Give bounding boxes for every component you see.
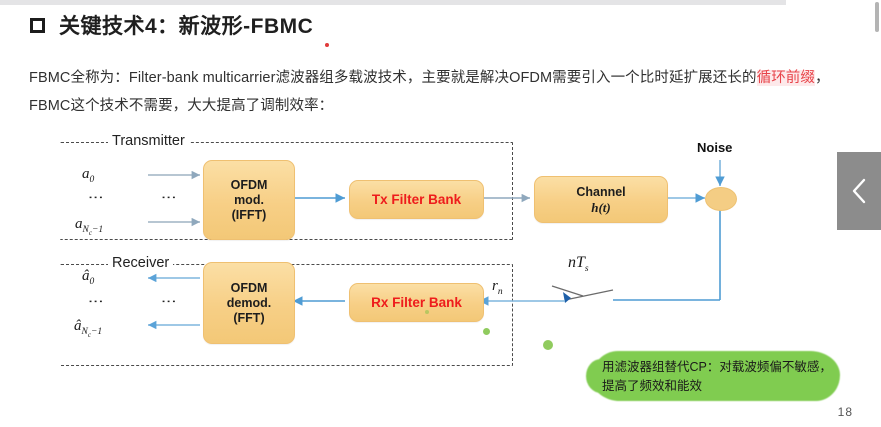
- sampling-instant-label-nts: nTs: [568, 254, 589, 274]
- page-title: 关键技术4：新波形-FBMC: [30, 10, 313, 40]
- rx-arrow-ellipsis: ⋮: [166, 294, 171, 309]
- block-ofdm-demod-line1: OFDM: [231, 281, 268, 296]
- decorative-green-dot: [543, 340, 553, 350]
- block-ofdm-mod-line1: OFDM: [231, 178, 268, 193]
- green-callout-text: 用滤波器组替代CP：对载波频偏不敏感，提高了频效和能效: [602, 358, 834, 396]
- block-ofdm-mod-line2: mod.: [234, 193, 264, 208]
- noise-label: Noise: [697, 140, 732, 155]
- summation-junction: [705, 187, 737, 211]
- previous-page-button[interactable]: [837, 152, 881, 230]
- paragraph-part-1: FBMC全称为：Filter-bank multicarrier滤波器组多载波技…: [29, 70, 757, 86]
- output-symbol-anc-hat: âNc−1: [74, 318, 102, 339]
- green-highlight-callout: 用滤波器组替代CP：对载波频偏不敏感，提高了频效和能效: [592, 351, 840, 401]
- square-bullet-icon: [30, 18, 45, 33]
- vertical-scrollbar-thumb[interactable]: [875, 2, 879, 32]
- block-channel-line2: h(t): [591, 200, 611, 215]
- block-channel-line1: Channel: [576, 185, 625, 200]
- body-paragraph: FBMC全称为：Filter-bank multicarrier滤波器组多载波技…: [29, 64, 859, 120]
- title-red-dot-marker: [325, 43, 329, 47]
- tx-arrow-ellipsis: ⋮: [166, 190, 171, 205]
- signal-label-rn: rn: [492, 278, 503, 297]
- decorative-green-dot: [483, 328, 490, 335]
- page-title-text: 关键技术4：新波形-FBMC: [59, 10, 313, 40]
- block-tx-filter-bank[interactable]: Tx Filter Bank: [349, 180, 484, 219]
- window-top-bar: [0, 0, 786, 5]
- block-ofdm-demod-line3: (FFT): [233, 311, 264, 326]
- block-channel[interactable]: Channel h(t): [534, 176, 668, 223]
- output-symbol-a0-hat: â0: [82, 268, 94, 287]
- page-number: 18: [838, 405, 853, 419]
- chevron-left-icon: [849, 176, 869, 206]
- block-ofdm-demod-line2: demod.: [227, 296, 271, 311]
- fbmc-block-diagram: Transmitter Receiver a0 ⋮ aNc−1: [60, 128, 820, 378]
- block-ofdm-mod[interactable]: OFDM mod. (IFFT): [203, 160, 295, 240]
- block-rx-filter-bank[interactable]: Rx Filter Bank: [349, 283, 484, 322]
- block-ofdm-demod[interactable]: OFDM demod. (FFT): [203, 262, 295, 344]
- diagram-connectors: [60, 128, 820, 378]
- block-rx-filter-bank-label: Rx Filter Bank: [371, 295, 462, 310]
- block-ofdm-mod-line3: (IFFT): [232, 208, 267, 223]
- block-tx-filter-bank-label: Tx Filter Bank: [372, 192, 461, 207]
- paragraph-highlight-cyclic-prefix: 循环前缀: [757, 70, 815, 86]
- decorative-green-dot: [425, 310, 429, 314]
- rx-output-ellipsis: ⋮: [93, 294, 98, 309]
